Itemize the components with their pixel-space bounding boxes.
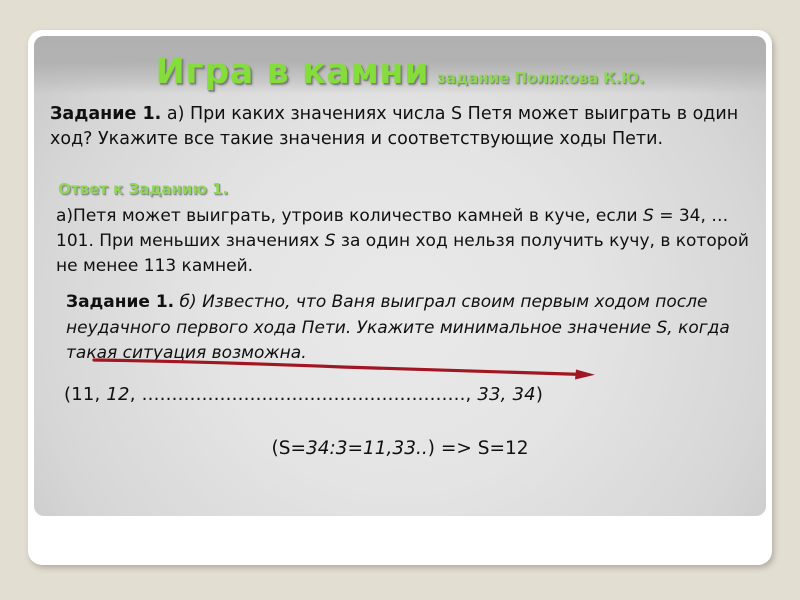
task-1b-paragraph: Задание 1. б) Известно, что Ваня выиграл… bbox=[66, 290, 756, 367]
formula-suffix: ) => S=12 bbox=[428, 438, 529, 459]
answer-variable-s-2: S bbox=[325, 231, 336, 251]
slide-frame: Игра в камнизадание Полякова К.Ю. Задани… bbox=[28, 30, 772, 565]
task-1b-label: Задание 1. bbox=[66, 292, 174, 312]
answer-heading: Ответ к Заданию 1. bbox=[58, 180, 228, 198]
sequence-separator-1: , bbox=[130, 384, 142, 405]
sequence-close: ) bbox=[536, 384, 543, 405]
formula-prefix: (S= bbox=[271, 438, 305, 459]
slide-title-row: Игра в камнизадание Полякова К.Ю. bbox=[34, 52, 766, 92]
answer-variable-s-1: S bbox=[643, 206, 654, 226]
sequence-separator-2: , bbox=[466, 384, 478, 405]
slide-content-panel: Игра в камнизадание Полякова К.Ю. Задани… bbox=[34, 36, 766, 516]
sequence-open: (11, bbox=[64, 384, 106, 405]
formula-expression: 34:3=11,33.. bbox=[306, 438, 428, 459]
task-1a-paragraph: Задание 1. а) При каких значениях числа … bbox=[50, 102, 756, 152]
answer-paragraph: а)Петя может выиграть, утроив количество… bbox=[56, 204, 756, 279]
page-subtitle: задание Полякова К.Ю. bbox=[437, 69, 644, 87]
sequence-line: (11, 12, ………………………………………………, 33, 34) bbox=[64, 384, 754, 405]
sequence-second-value: 12 bbox=[106, 384, 129, 405]
task-1a-label: Задание 1. bbox=[50, 104, 161, 124]
answer-part-1: а)Петя может выиграть, утроив количество… bbox=[56, 206, 643, 226]
sequence-ellipsis: ……………………………………………… bbox=[142, 384, 466, 405]
formula-line: (S=34:3=11,33..) => S=12 bbox=[34, 438, 766, 459]
page-title: Игра в камни bbox=[156, 52, 429, 92]
sequence-tail-values: 33, 34 bbox=[477, 384, 535, 405]
